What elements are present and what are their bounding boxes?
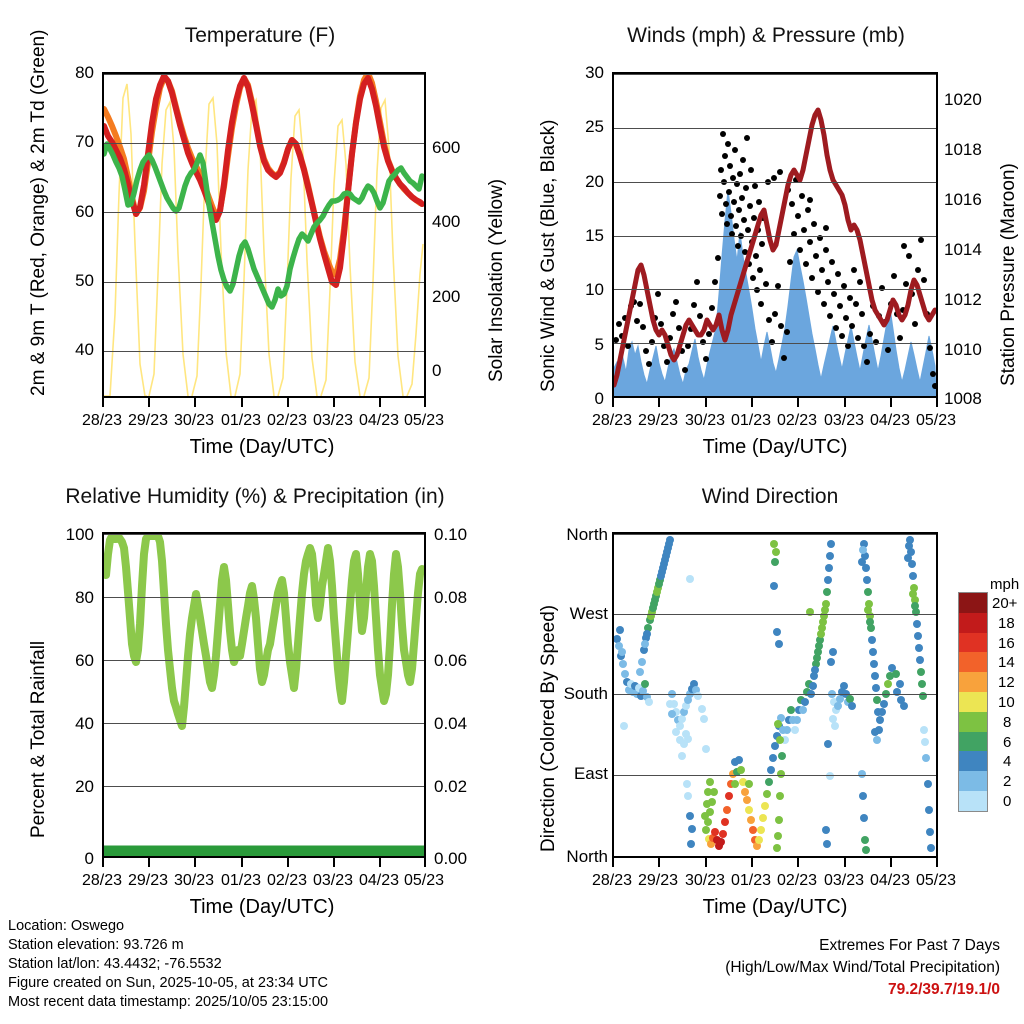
colorbar-swatch-12	[959, 672, 987, 692]
winds-xlabel: Time (Day/UTC)	[625, 436, 925, 459]
humidity-traces	[104, 534, 424, 856]
colorbar-swatches	[958, 592, 988, 812]
gridline	[104, 660, 424, 661]
extremes-summary: Extremes For Past 7 Days (High/Low/Max W…	[600, 935, 1000, 1001]
station-metadata-footer: Location: Oswego Station elevation: 93.7…	[8, 917, 328, 1012]
tickmark	[844, 858, 846, 867]
wd-ytick-west: West	[548, 604, 608, 624]
tickmark	[241, 398, 243, 407]
gridline	[614, 236, 936, 237]
colorbar-swatch-8	[959, 712, 987, 732]
temp-ytick-60: 60	[50, 202, 94, 222]
wd-ytick-east: East	[548, 764, 608, 784]
rh-xtick-7: 05/23	[394, 872, 454, 890]
humidity-plot-area	[102, 532, 426, 858]
humidity-xlabel: Time (Day/UTC)	[112, 896, 412, 919]
extremes-values: 79.2/39.7/19.1/0	[600, 979, 1000, 1001]
tickmark	[333, 858, 335, 867]
colorbar-swatch-16	[959, 633, 987, 653]
tickmark	[797, 858, 799, 867]
gridline	[104, 597, 424, 598]
tickmark	[287, 858, 289, 867]
gridline	[104, 351, 424, 352]
tickmark	[424, 398, 426, 407]
humidity-title: Relative Humidity (%) & Precipitation (i…	[20, 485, 490, 509]
wind-direction-xlabel: Time (Day/UTC)	[625, 896, 925, 919]
pres-ytick-1020: 1020	[944, 90, 1004, 110]
colorbar-label-14: 14	[998, 654, 1015, 671]
footer-latlon: Station lat/lon: 43.4432; -76.5532	[8, 955, 328, 974]
tickmark	[936, 398, 938, 407]
precip-ytick-008: 0.08	[434, 588, 494, 608]
pres-ytick-1018: 1018	[944, 140, 1004, 160]
colorbar-label-20plus: 20+	[992, 595, 1017, 612]
tickmark	[333, 398, 335, 407]
tickmark	[890, 398, 892, 407]
wind-ytick-25: 25	[560, 117, 604, 137]
gridline	[104, 74, 424, 75]
rh-ytick-80: 80	[46, 588, 94, 608]
tickmark	[751, 398, 753, 407]
colorbar-label-6: 6	[1003, 734, 1011, 751]
colorbar-swatch-20plus	[959, 593, 987, 613]
wind-direction-scatter	[614, 534, 936, 856]
extremes-subtitle: (High/Low/Max Wind/Total Precipitation)	[600, 957, 1000, 979]
tickmark	[890, 858, 892, 867]
wind-ytick-10: 10	[560, 280, 604, 300]
tickmark	[612, 398, 614, 407]
colorbar-swatch-4	[959, 751, 987, 771]
tickmark	[612, 858, 614, 867]
wind-ytick-20: 20	[560, 172, 604, 192]
precip-ytick-006: 0.06	[434, 651, 494, 671]
temp-ytick-70: 70	[50, 132, 94, 152]
colorbar-label-16: 16	[998, 635, 1015, 652]
tickmark	[658, 858, 660, 867]
tickmark	[424, 858, 426, 867]
gridline	[614, 128, 936, 129]
wind-direction-title: Wind Direction	[620, 485, 920, 509]
colorbar-label-12: 12	[998, 674, 1015, 691]
temp-ytick-50: 50	[50, 271, 94, 291]
pres-ytick-1014: 1014	[944, 240, 1004, 260]
wd-ytick-north-top: North	[548, 525, 608, 545]
colorbar-swatch-2	[959, 771, 987, 791]
pres-ytick-1008: 1008	[944, 389, 1004, 409]
precip-ytick-002: 0.02	[434, 777, 494, 797]
tickmark	[705, 398, 707, 407]
pres-ytick-1010: 1010	[944, 340, 1004, 360]
tickmark	[194, 858, 196, 867]
colorbar-swatch-0	[959, 791, 987, 811]
tickmark	[287, 398, 289, 407]
tickmark	[241, 858, 243, 867]
wind-xtick-7: 05/23	[906, 412, 966, 430]
gridline	[614, 694, 936, 695]
footer-recent-data: Most recent data timestamp: 2025/10/05 2…	[8, 993, 328, 1012]
winds-ylabel: Sonic Wind & Gust (Blue, Black)	[538, 120, 560, 392]
wd-xtick-7: 05/23	[906, 872, 966, 890]
winds-plot-area	[612, 72, 938, 398]
wind-direction-plot-area	[612, 532, 938, 858]
wind-direction-ylabel: Direction (Colored By Speed)	[538, 605, 560, 852]
temp-ytick-40: 40	[50, 340, 94, 360]
temperature-plot-area	[102, 72, 426, 398]
tickmark	[751, 858, 753, 867]
temperature-y2label: Solar Insolation (Yellow)	[486, 179, 508, 382]
gridline	[614, 775, 936, 776]
footer-created: Figure created on Sun, 2025-10-05, at 23…	[8, 974, 328, 993]
footer-elevation: Station elevation: 93.726 m	[8, 936, 328, 955]
precip-ytick-000: 0.00	[434, 849, 494, 869]
rh-ytick-100: 100	[46, 525, 94, 545]
colorbar-swatch-18	[959, 613, 987, 633]
tickmark	[102, 398, 104, 407]
pres-ytick-1016: 1016	[944, 190, 1004, 210]
temp-xtick-7: 05/23	[394, 412, 454, 430]
colorbar-label-8: 8	[1003, 714, 1011, 731]
colorbar-label-10: 10	[998, 694, 1015, 711]
wd-ytick-north-bottom: North	[548, 847, 608, 867]
colorbar-label-0: 0	[1003, 793, 1011, 810]
rh-ytick-40: 40	[46, 714, 94, 734]
solar-ytick-200: 200	[432, 287, 476, 307]
gridline	[614, 182, 936, 183]
gridline	[104, 723, 424, 724]
wind-ytick-15: 15	[560, 226, 604, 246]
extremes-title: Extremes For Past 7 Days	[600, 935, 1000, 957]
tickmark	[102, 858, 104, 867]
tickmark	[658, 398, 660, 407]
gridline	[104, 282, 424, 283]
gridline	[614, 289, 936, 290]
temperature-title: Temperature (F)	[100, 24, 420, 48]
tickmark	[379, 398, 381, 407]
precip-ytick-010: 0.10	[434, 525, 494, 545]
winds-traces	[614, 74, 936, 396]
wind-ytick-30: 30	[560, 63, 604, 83]
gridline	[614, 534, 936, 535]
solar-ytick-600: 600	[432, 138, 476, 158]
temperature-xlabel: Time (Day/UTC)	[112, 436, 412, 459]
temp-ytick-80: 80	[50, 63, 94, 83]
colorbar-swatch-14	[959, 652, 987, 672]
gridline	[614, 614, 936, 615]
gridline	[104, 212, 424, 213]
rh-ytick-60: 60	[46, 651, 94, 671]
tickmark	[148, 858, 150, 867]
winds-title: Winds (mph) & Pressure (mb)	[596, 24, 936, 48]
colorbar-swatch-6	[959, 732, 987, 752]
wind-ytick-5: 5	[560, 335, 604, 355]
tickmark	[936, 858, 938, 867]
colorbar-label-4: 4	[1003, 753, 1011, 770]
temperature-traces	[104, 74, 424, 396]
rh-ytick-20: 20	[46, 777, 94, 797]
temperature-ylabel: 2m & 9m T (Red, Orange) & 2m Td (Green)	[28, 30, 50, 396]
colorbar-swatch-10	[959, 692, 987, 712]
tickmark	[148, 398, 150, 407]
tickmark	[844, 398, 846, 407]
solar-ytick-400: 400	[432, 212, 476, 232]
tickmark	[194, 398, 196, 407]
precip-ytick-004: 0.04	[434, 714, 494, 734]
tickmark	[705, 858, 707, 867]
colorbar-title: mph	[990, 576, 1019, 593]
tickmark	[797, 398, 799, 407]
wd-ytick-south: South	[548, 684, 608, 704]
gridline	[104, 534, 424, 535]
colorbar-label-18: 18	[998, 615, 1015, 632]
gridline	[104, 143, 424, 144]
gridline	[614, 74, 936, 75]
solar-ytick-0: 0	[432, 361, 476, 381]
tickmark	[379, 858, 381, 867]
rh-ytick-0: 0	[46, 849, 94, 869]
gridline	[614, 343, 936, 344]
gridline	[104, 786, 424, 787]
pres-ytick-1012: 1012	[944, 290, 1004, 310]
footer-location: Location: Oswego	[8, 917, 328, 936]
wind-ytick-0: 0	[560, 389, 604, 409]
colorbar-label-2: 2	[1003, 773, 1011, 790]
